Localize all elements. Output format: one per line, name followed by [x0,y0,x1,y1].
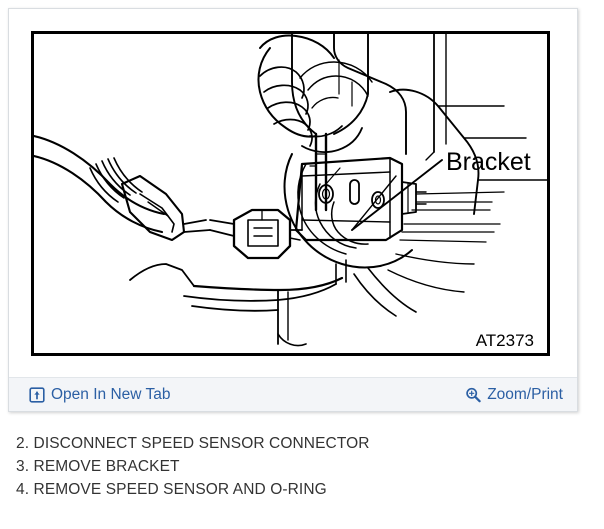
image-viewer-panel: Bracket AT2373 Open In New Tab [8,8,578,412]
page-root: Bracket AT2373 Open In New Tab [0,0,604,529]
procedure-step-list: 2. DISCONNECT SPEED SENSOR CONNECTOR 3. … [16,432,576,501]
zoom-print-label: Zoom/Print [487,387,563,403]
open-in-new-tab-link[interactable]: Open In New Tab [29,378,170,412]
step-line: 3. REMOVE BRACKET [16,455,576,478]
technical-illustration: Bracket AT2373 [34,34,547,353]
open-in-new-tab-icon [29,387,45,403]
step-line: 2. DISCONNECT SPEED SENSOR CONNECTOR [16,432,576,455]
callout-label: Bracket [446,148,531,176]
viewer-footer-toolbar: Open In New Tab Zoom/Print [9,377,577,411]
magnifier-plus-icon [465,387,481,403]
open-in-new-tab-label: Open In New Tab [51,387,170,403]
figure-code: AT2373 [476,331,534,350]
figure-frame: Bracket AT2373 [31,31,550,356]
figure-area: Bracket AT2373 [9,9,577,378]
zoom-print-link[interactable]: Zoom/Print [465,378,563,412]
step-line: 4. REMOVE SPEED SENSOR AND O-RING [16,478,576,501]
